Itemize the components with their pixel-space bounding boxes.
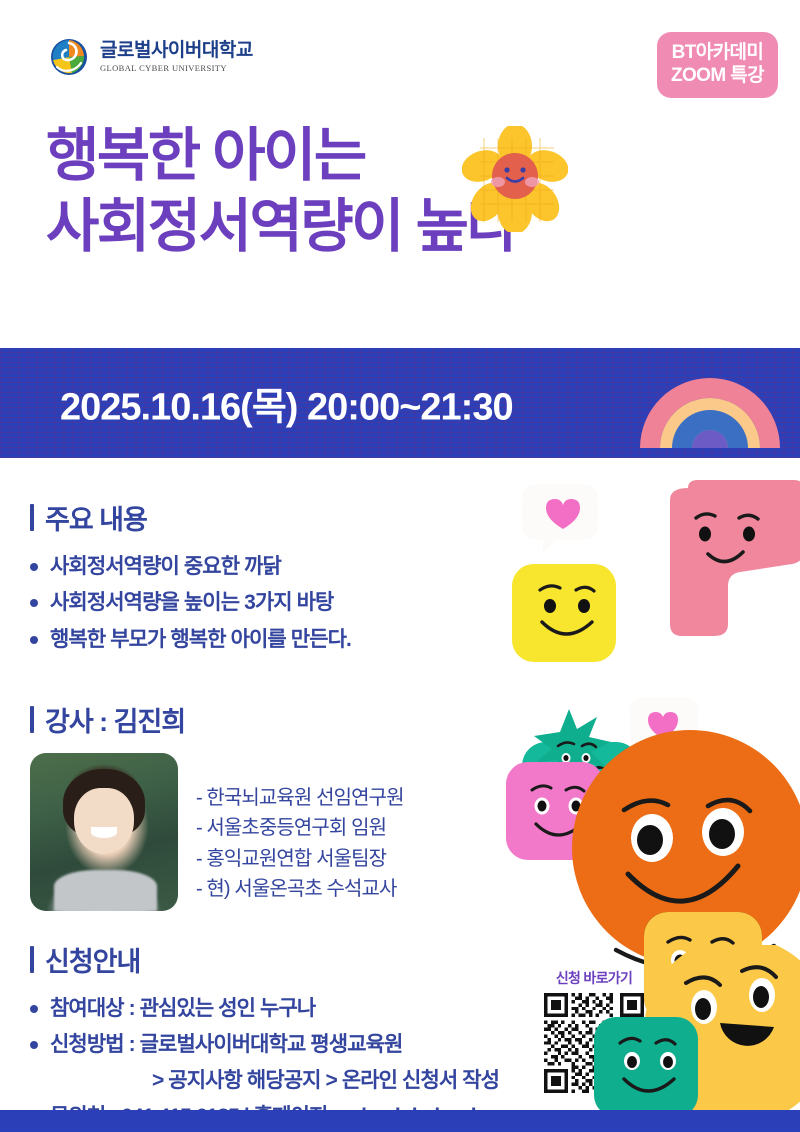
apply-bullet-text: 신청방법 : 글로벌사이버대학교 평생교육원 xyxy=(50,1031,402,1058)
list-item: 신청방법 : 글로벌사이버대학교 평생교육원 xyxy=(30,1031,499,1058)
portrait-face xyxy=(74,788,133,854)
credential-line: - 홍익교원연합 서울팀장 xyxy=(196,844,404,874)
pink-square-character xyxy=(506,762,604,860)
heading-bar-icon xyxy=(30,706,34,733)
heading-bar-icon xyxy=(30,504,34,531)
heart-icon xyxy=(648,712,678,739)
apply-section: 신청안내 참여대상 : 관심있는 성인 누구나 신청방법 : 글로벌사이버대학교… xyxy=(30,940,499,1132)
heart-icon xyxy=(546,499,580,529)
title-line-1: 행복한 아이는 xyxy=(46,124,686,189)
credential-line: - 현) 서울온곡초 수석교사 xyxy=(196,874,404,904)
rainbow-icon xyxy=(636,330,784,450)
qr-code-icon[interactable] xyxy=(544,993,644,1093)
zoom-lecture-badge: BT아카데미 ZOOM 특강 xyxy=(657,32,778,98)
poster-title: 행복한 아이는 사회정서역량이 높다 xyxy=(46,124,686,260)
badge-line-2: ZOOM 특강 xyxy=(671,64,764,87)
list-item: 사회정서역량을 높이는 3가지 바탕 xyxy=(30,589,351,616)
footer-bar xyxy=(0,1110,800,1132)
apply-section-heading: 신청안내 xyxy=(30,940,499,979)
qr-apply-block[interactable]: 신청 바로가기 xyxy=(538,968,650,1093)
green-star-character xyxy=(534,709,611,785)
logo-text: 글로벌사이버대학교 GLOBAL CYBER UNIVERSITY xyxy=(100,41,253,73)
content-bullet-text: 사회정서역량이 중요한 까닭 xyxy=(50,553,281,580)
orange-small-character xyxy=(638,802,694,850)
heading-bar-icon xyxy=(30,946,34,973)
pink-brow-right xyxy=(739,515,758,519)
content-bullet-text: 사회정서역량을 높이는 3가지 바탕 xyxy=(50,589,333,616)
bullet-dot-icon xyxy=(30,599,38,607)
list-item: 참여대상 : 관심있는 성인 누구나 xyxy=(30,995,499,1022)
green-square-character xyxy=(522,742,640,842)
poster-root: 글로벌사이버대학교 GLOBAL CYBER UNIVERSITY BT아카데미… xyxy=(0,0,800,1132)
pink-mouth xyxy=(708,552,743,562)
pink-eye-left xyxy=(699,527,711,542)
teacher-credentials: - 한국뇌교육원 선임연구원 - 서울초중등연구회 임원 - 홍익교원연합 서울… xyxy=(196,753,404,905)
content-section-heading: 주요 내용 xyxy=(30,498,351,537)
list-item: 사회정서역량이 중요한 까닭 xyxy=(30,553,351,580)
apply-bullet-text: 참여대상 : 관심있는 성인 누구나 xyxy=(50,995,315,1022)
content-section: 주요 내용 사회정서역량이 중요한 까닭 사회정서역량을 높이는 3가지 바탕 … xyxy=(30,498,351,662)
badge-line-1: BT아카데미 xyxy=(671,41,764,64)
orange-big-character xyxy=(572,730,800,969)
yellow-square-character xyxy=(512,564,616,662)
yellow-child-character xyxy=(644,912,762,1030)
heart-speech-bubble-mid xyxy=(630,697,698,749)
content-bullet-list: 사회정서역량이 중요한 까닭 사회정서역량을 높이는 3가지 바탕 행복한 부모… xyxy=(30,553,351,653)
pink-eye-right xyxy=(743,527,755,542)
heart-icon xyxy=(678,982,730,1030)
teacher-section: 강사 : 김진희 - 한국뇌교육원 선임연구원 - 서울초중등연구회 임원 - … xyxy=(30,700,404,911)
pink-blob-character xyxy=(670,480,800,636)
content-bullet-text: 행복한 부모가 행복한 아이를 만든다. xyxy=(50,626,351,653)
bullet-dot-icon xyxy=(30,1005,38,1013)
teacher-section-heading: 강사 : 김진희 xyxy=(30,700,404,739)
bullet-dot-icon xyxy=(30,636,38,644)
bullet-dot-icon xyxy=(30,1041,38,1049)
globe-swirl-icon xyxy=(48,36,90,78)
logo-name-kr: 글로벌사이버대학교 xyxy=(100,41,253,62)
pink-brow-left xyxy=(696,514,715,518)
credential-line: - 한국뇌교육원 선임연구원 xyxy=(196,783,404,813)
portrait-shoulder xyxy=(54,870,158,911)
apply-heading-text: 신청안내 xyxy=(45,940,140,979)
list-item: 행복한 부모가 행복한 아이를 만든다. xyxy=(30,626,351,653)
university-logo: 글로벌사이버대학교 GLOBAL CYBER UNIVERSITY xyxy=(48,36,253,78)
heart-speech-bubble-top xyxy=(522,484,598,554)
character-illustration-group xyxy=(500,480,800,1040)
teacher-profile: - 한국뇌교육원 선임연구원 - 서울초중등연구회 임원 - 홍익교원연합 서울… xyxy=(30,753,404,911)
logo-name-en: GLOBAL CYBER UNIVERSITY xyxy=(100,63,253,73)
credential-line: - 서울초중등연구회 임원 xyxy=(196,813,404,843)
teacher-heading-text: 강사 : 김진희 xyxy=(45,700,185,739)
flower-smiley-icon xyxy=(462,126,568,232)
instructor-portrait xyxy=(30,753,178,911)
content-heading-text: 주요 내용 xyxy=(45,498,147,537)
lecture-datetime: 2025.10.16(목) 20:00~21:30 xyxy=(60,376,513,431)
title-line-2: 사회정서역량이 높다 xyxy=(46,195,686,260)
apply-sub-line: > 공지사항 해당공지 > 온라인 신청서 작성 xyxy=(152,1064,499,1094)
open-mouth xyxy=(720,1023,774,1046)
yellow-circle-character xyxy=(644,945,800,1120)
qr-label: 신청 바로가기 xyxy=(538,968,650,988)
bullet-dot-icon xyxy=(30,563,38,571)
